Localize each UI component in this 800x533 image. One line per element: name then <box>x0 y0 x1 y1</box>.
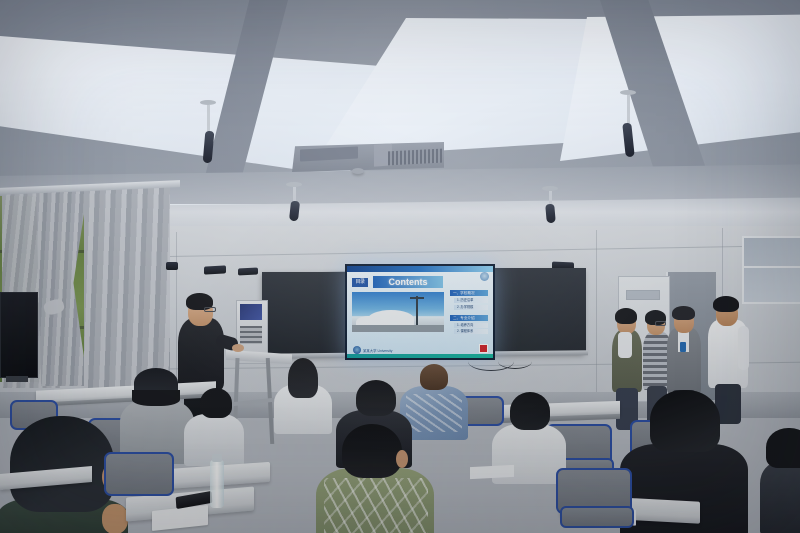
university-emblem-icon <box>480 272 489 281</box>
s2-pattern <box>406 394 462 432</box>
slide-bullet-2-2: 2. 课程体系 <box>454 329 488 334</box>
national-flag-mark-icon <box>479 344 488 353</box>
slide-photo <box>352 292 444 332</box>
presenter-glasses-icon <box>204 307 216 312</box>
pendant-speaker-3 <box>546 186 558 223</box>
pendant-speaker-1 <box>204 100 216 163</box>
slide: 目录 Contents 一、学校概况 1. 历史沿革 2. 办学规模 二、专业介… <box>347 266 493 358</box>
pendant-speaker-4 <box>624 90 636 157</box>
chair-back-front-left[interactable] <box>104 452 174 496</box>
s8-hair <box>650 390 720 452</box>
logo-mark-icon <box>353 346 361 354</box>
s4-hair <box>510 392 550 430</box>
slide-bottom-accent-bar <box>347 354 493 358</box>
pendant-speaker-2 <box>290 182 302 221</box>
ac-grill-icon <box>388 149 442 166</box>
wall-speaker-right2 <box>166 262 178 270</box>
slide-contents-list: 一、学校概况 1. 历史沿革 2. 办学规模 二、专业介绍 1. 培养方向 2.… <box>450 290 488 336</box>
slide-title-english: Contents <box>373 276 443 288</box>
s2-hair <box>420 364 448 390</box>
presenter-hand <box>232 344 244 352</box>
curtain-panel-right <box>84 186 170 391</box>
wall-speaker-left2 <box>238 267 258 275</box>
slide-bullet-1-1: 1. 历史沿革 <box>454 298 488 303</box>
presenter-torso <box>178 318 224 390</box>
observer-1-inner-top <box>618 332 632 358</box>
observer-2-glasses-icon <box>655 321 666 326</box>
s7-hair <box>132 390 180 406</box>
slide-bullet-1-2: 2. 办学规模 <box>454 305 488 310</box>
slide-logo-text: 某某大学 University <box>363 348 392 353</box>
corridor-window <box>742 236 800 304</box>
s3-hair <box>356 380 396 416</box>
s6-hair <box>10 416 114 512</box>
slide-bullet-2-1: 1. 培养方向 <box>454 323 488 328</box>
s6-hand <box>102 504 128 533</box>
slide-title-chinese: 目录 <box>352 278 368 287</box>
wall-monitor[interactable] <box>0 292 38 378</box>
s1-hair <box>288 358 318 398</box>
smoke-detector-left <box>352 168 364 174</box>
av-control-buttons[interactable] <box>240 326 262 344</box>
wall-seam-v1 <box>596 230 597 400</box>
s5-ear <box>396 450 408 468</box>
display-cable-2 <box>498 354 532 369</box>
chair-seat-front-right[interactable] <box>560 506 634 528</box>
s5-hair <box>342 424 402 478</box>
s5-pattern <box>324 478 428 533</box>
slide-section-heading-2: 二、专业介绍 <box>450 315 488 321</box>
s10-hair <box>200 388 232 418</box>
s9-torso <box>760 462 800 533</box>
observer-4-arm <box>738 326 749 370</box>
water-bottle[interactable] <box>210 460 224 508</box>
av-control-screen[interactable] <box>240 304 262 320</box>
observer-3-hair <box>672 306 695 320</box>
classroom-photo: 目录 Contents 一、学校概况 1. 历史沿革 2. 办学规模 二、专业介… <box>0 0 800 533</box>
observer-4-hair <box>713 296 739 312</box>
observer-1-hair <box>615 308 637 324</box>
door-vision-panel <box>626 290 660 300</box>
window-mullion <box>742 266 800 268</box>
slide-top-accent-bar <box>347 266 493 272</box>
slide-footer-logo: 某某大学 University <box>353 346 392 354</box>
paper-notes-3[interactable] <box>470 465 514 479</box>
wall-seam-v3 <box>176 232 177 392</box>
slide-section-heading-1: 一、学校概况 <box>450 290 488 296</box>
wall-speaker-left <box>204 265 226 274</box>
lanyard-badge-icon <box>680 342 686 352</box>
presentation-display[interactable]: 目录 Contents 一、学校概况 1. 历史沿革 2. 办学规模 二、专业介… <box>345 264 495 360</box>
s9-hair <box>766 428 800 468</box>
blackboard-right-panel <box>480 268 586 354</box>
wall-monitor-stand <box>6 376 28 382</box>
water-bottle-cap <box>212 454 222 462</box>
